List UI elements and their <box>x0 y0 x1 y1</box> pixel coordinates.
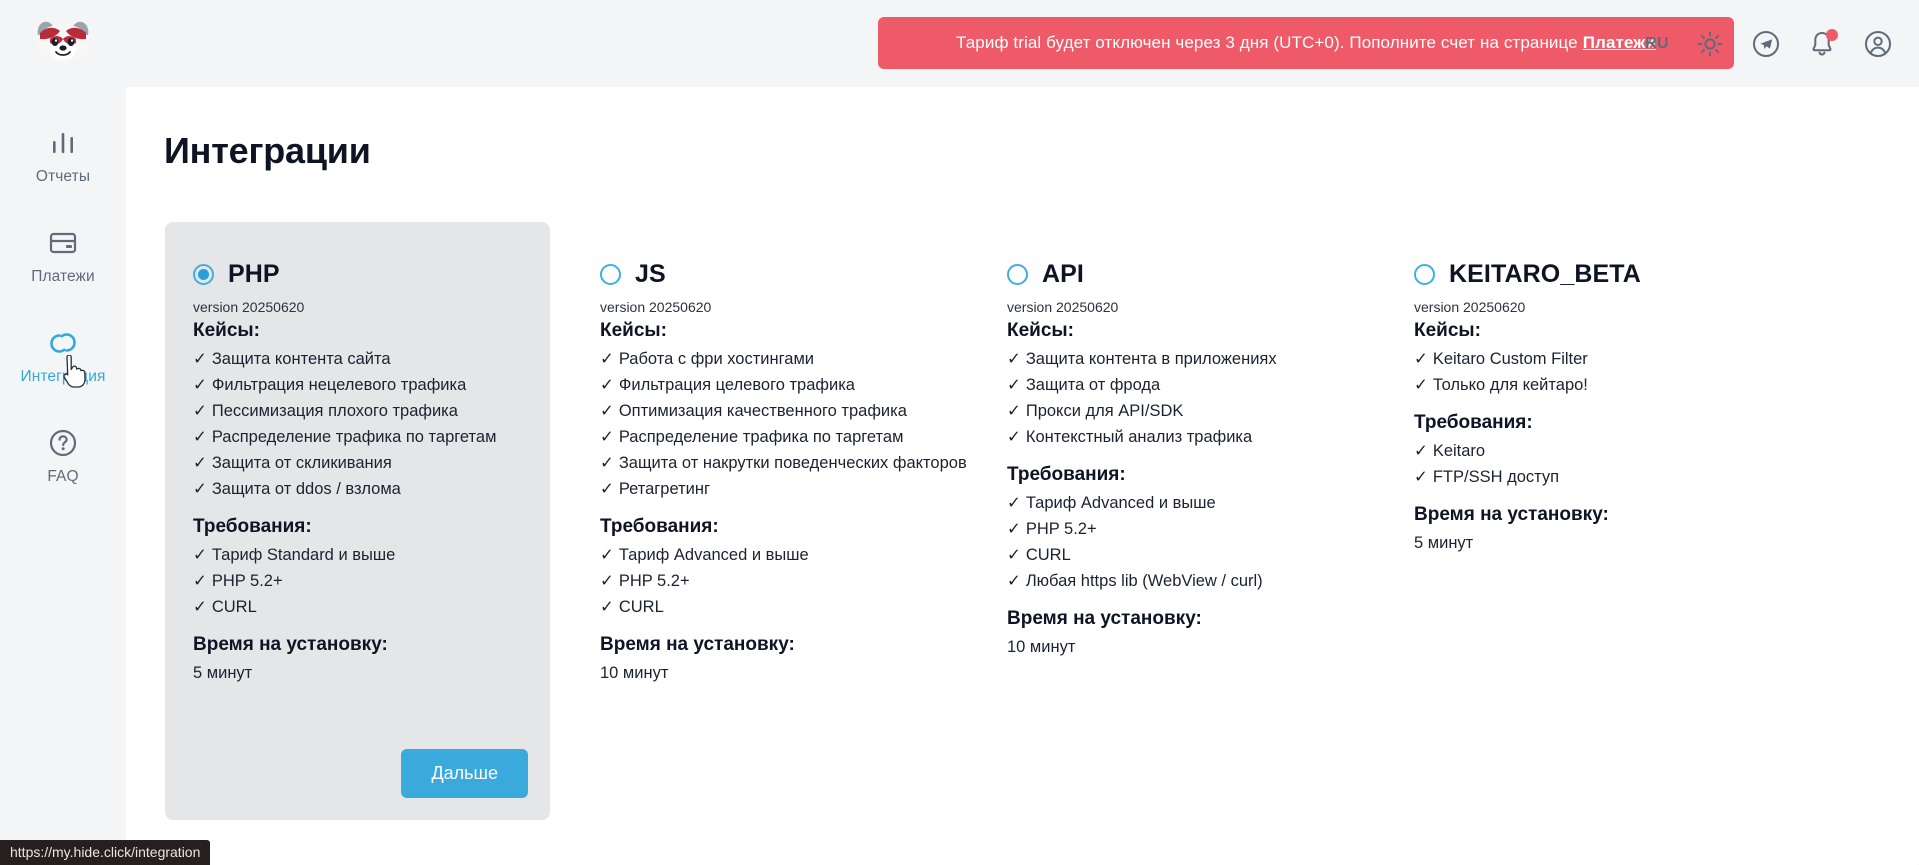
user-account-icon[interactable] <box>1863 29 1893 59</box>
requirement-item: ✓CURL <box>600 594 929 620</box>
requirement-item: ✓PHP 5.2+ <box>1007 516 1336 542</box>
requirements-heading: Требования: <box>1414 412 1743 434</box>
sidebar-item-payments[interactable]: Платежи <box>0 214 126 296</box>
check-icon: ✓ <box>1007 402 1021 420</box>
integration-card-api[interactable]: API version 20250620 Кейсы: ✓Защита конт… <box>979 222 1364 820</box>
next-button[interactable]: Дальше <box>401 749 528 798</box>
integration-card-js[interactable]: JS version 20250620 Кейсы: ✓Работа с фри… <box>572 222 957 820</box>
case-item: ✓Защита от накрутки поведенческих фактор… <box>600 450 929 476</box>
alert-text: Тариф trial будет отключен через 3 дня (… <box>956 33 1578 53</box>
cases-heading: Кейсы: <box>1007 320 1336 342</box>
sidebar-item-label: FAQ <box>47 468 78 486</box>
check-icon: ✓ <box>600 376 614 394</box>
case-item: ✓Keitaro Custom Filter <box>1414 346 1743 372</box>
case-item: ✓Контекстный анализ трафика <box>1007 424 1336 450</box>
check-icon: ✓ <box>1414 376 1428 394</box>
case-item: ✓Оптимизация качественного трафика <box>600 398 929 424</box>
card-header: PHP <box>193 260 522 289</box>
requirement-item: ✓Тариф Advanced и выше <box>1007 490 1336 516</box>
case-item: ✓Ретагретинг <box>600 476 929 502</box>
radio-button-keitaro-beta[interactable] <box>1414 264 1435 285</box>
time-heading: Время на установку: <box>1414 504 1743 526</box>
check-icon: ✓ <box>600 402 614 420</box>
card-header: JS <box>600 260 929 289</box>
case-item: ✓Только для кейтаро! <box>1414 372 1743 398</box>
case-item: ✓Фильтрация нецелевого трафика <box>193 372 522 398</box>
card-title: KEITARO_BETA <box>1449 260 1641 289</box>
check-icon: ✓ <box>1007 520 1021 538</box>
integration-cards: PHP version 20250620 Кейсы: ✓Защита конт… <box>165 222 1805 820</box>
case-item: ✓Прокси для API/SDK <box>1007 398 1336 424</box>
requirement-item: ✓Любая https lib (WebView / curl) <box>1007 568 1336 594</box>
card-title: API <box>1042 260 1084 289</box>
check-icon: ✓ <box>600 350 614 368</box>
check-icon: ✓ <box>1007 428 1021 446</box>
card-title: JS <box>635 260 666 289</box>
sidebar-item-reports[interactable]: Отчеты <box>0 114 126 196</box>
radio-button-php[interactable] <box>193 264 214 285</box>
cases-heading: Кейсы: <box>193 320 522 342</box>
requirement-item: ✓Keitaro <box>1414 438 1743 464</box>
bar-chart-icon <box>46 126 80 160</box>
sidebar-item-faq[interactable]: FAQ <box>0 414 126 496</box>
check-icon: ✓ <box>193 428 207 446</box>
sidebar-item-label: Интеграция <box>20 368 105 386</box>
notification-badge <box>1826 29 1838 41</box>
card-header: KEITARO_BETA <box>1414 260 1743 289</box>
question-circle-icon <box>46 426 80 460</box>
bell-notification-icon[interactable] <box>1807 29 1837 59</box>
trial-alert-banner[interactable]: Тариф trial будет отключен через 3 дня (… <box>878 17 1734 69</box>
sidebar-nav: Отчеты Платежи <box>0 114 126 496</box>
cases-heading: Кейсы: <box>600 320 929 342</box>
status-bar-url: https://my.hide.click/integration <box>0 840 210 865</box>
check-icon: ✓ <box>193 402 207 420</box>
card-version: version 20250620 <box>193 299 522 315</box>
requirement-item: ✓FTP/SSH доступ <box>1414 464 1743 490</box>
requirements-heading: Требования: <box>1007 464 1336 486</box>
check-icon: ✓ <box>600 572 614 590</box>
check-icon: ✓ <box>1007 376 1021 394</box>
card-header: API <box>1007 260 1336 289</box>
check-icon: ✓ <box>193 454 207 472</box>
check-icon: ✓ <box>1007 546 1021 564</box>
integration-card-keitaro-beta[interactable]: KEITARO_BETA version 20250620 Кейсы: ✓Ke… <box>1386 222 1771 820</box>
time-value: 10 минут <box>1007 634 1336 660</box>
check-icon: ✓ <box>193 598 207 616</box>
check-icon: ✓ <box>600 546 614 564</box>
radio-dot <box>198 269 209 280</box>
requirement-item: ✓Тариф Advanced и выше <box>600 542 929 568</box>
sidebar-item-label: Платежи <box>31 268 95 286</box>
case-item: ✓Защита от фрода <box>1007 372 1336 398</box>
check-icon: ✓ <box>600 480 614 498</box>
case-item: ✓Защита от скликивания <box>193 450 522 476</box>
check-icon: ✓ <box>193 480 207 498</box>
check-icon: ✓ <box>193 572 207 590</box>
case-item: ✓Работа с фри хостингами <box>600 346 929 372</box>
requirement-item: ✓PHP 5.2+ <box>600 568 929 594</box>
sun-theme-icon[interactable] <box>1695 29 1725 59</box>
card-version: version 20250620 <box>1414 299 1743 315</box>
telegram-icon[interactable] <box>1751 29 1781 59</box>
case-item: ✓Пессимизация плохого трафика <box>193 398 522 424</box>
app-root: Отчеты Платежи <box>0 0 1919 865</box>
requirements-heading: Требования: <box>193 516 522 538</box>
requirements-heading: Требования: <box>600 516 929 538</box>
requirement-item: ✓PHP 5.2+ <box>193 568 522 594</box>
sidebar-item-label: Отчеты <box>36 168 90 186</box>
check-icon: ✓ <box>1007 350 1021 368</box>
time-value: 10 минут <box>600 660 929 686</box>
check-icon: ✓ <box>193 350 207 368</box>
header-actions: RU <box>1645 0 1893 87</box>
time-heading: Время на установку: <box>193 634 522 656</box>
requirement-item: ✓Тариф Standard и выше <box>193 542 522 568</box>
check-icon: ✓ <box>193 376 207 394</box>
requirement-item: ✓CURL <box>193 594 522 620</box>
case-item: ✓Защита контента сайта <box>193 346 522 372</box>
check-icon: ✓ <box>1414 468 1428 486</box>
time-heading: Время на установку: <box>600 634 929 656</box>
requirement-item: ✓CURL <box>1007 542 1336 568</box>
check-icon: ✓ <box>600 428 614 446</box>
check-icon: ✓ <box>1007 494 1021 512</box>
credit-card-icon <box>46 226 80 260</box>
check-icon: ✓ <box>193 546 207 564</box>
case-item: ✓Защита от ddos / взлома <box>193 476 522 502</box>
check-icon: ✓ <box>600 598 614 616</box>
language-switcher[interactable]: RU <box>1645 35 1669 53</box>
sidebar-item-integration[interactable]: Интеграция <box>0 314 126 396</box>
card-version: version 20250620 <box>600 299 929 315</box>
radio-button-js[interactable] <box>600 264 621 285</box>
case-item: ✓Распределение трафика по таргетам <box>193 424 522 450</box>
link-chain-icon <box>46 326 80 360</box>
case-item: ✓Защита контента в приложениях <box>1007 346 1336 372</box>
page-title: Интеграции <box>164 130 371 172</box>
integration-card-php[interactable]: PHP version 20250620 Кейсы: ✓Защита конт… <box>165 222 550 820</box>
time-heading: Время на установку: <box>1007 608 1336 630</box>
check-icon: ✓ <box>1414 350 1428 368</box>
case-item: ✓Распределение трафика по таргетам <box>600 424 929 450</box>
cases-heading: Кейсы: <box>1414 320 1743 342</box>
time-value: 5 минут <box>193 660 522 686</box>
top-header: Тариф trial будет отключен через 3 дня (… <box>126 0 1919 87</box>
card-version: version 20250620 <box>1007 299 1336 315</box>
check-icon: ✓ <box>1414 442 1428 460</box>
sidebar: Отчеты Платежи <box>0 0 126 865</box>
check-icon: ✓ <box>600 454 614 472</box>
card-title: PHP <box>228 260 280 289</box>
radio-button-api[interactable] <box>1007 264 1028 285</box>
time-value: 5 минут <box>1414 530 1743 556</box>
case-item: ✓Фильтрация целевого трафика <box>600 372 929 398</box>
raccoon-logo-icon[interactable] <box>30 8 96 74</box>
check-icon: ✓ <box>1007 572 1021 590</box>
